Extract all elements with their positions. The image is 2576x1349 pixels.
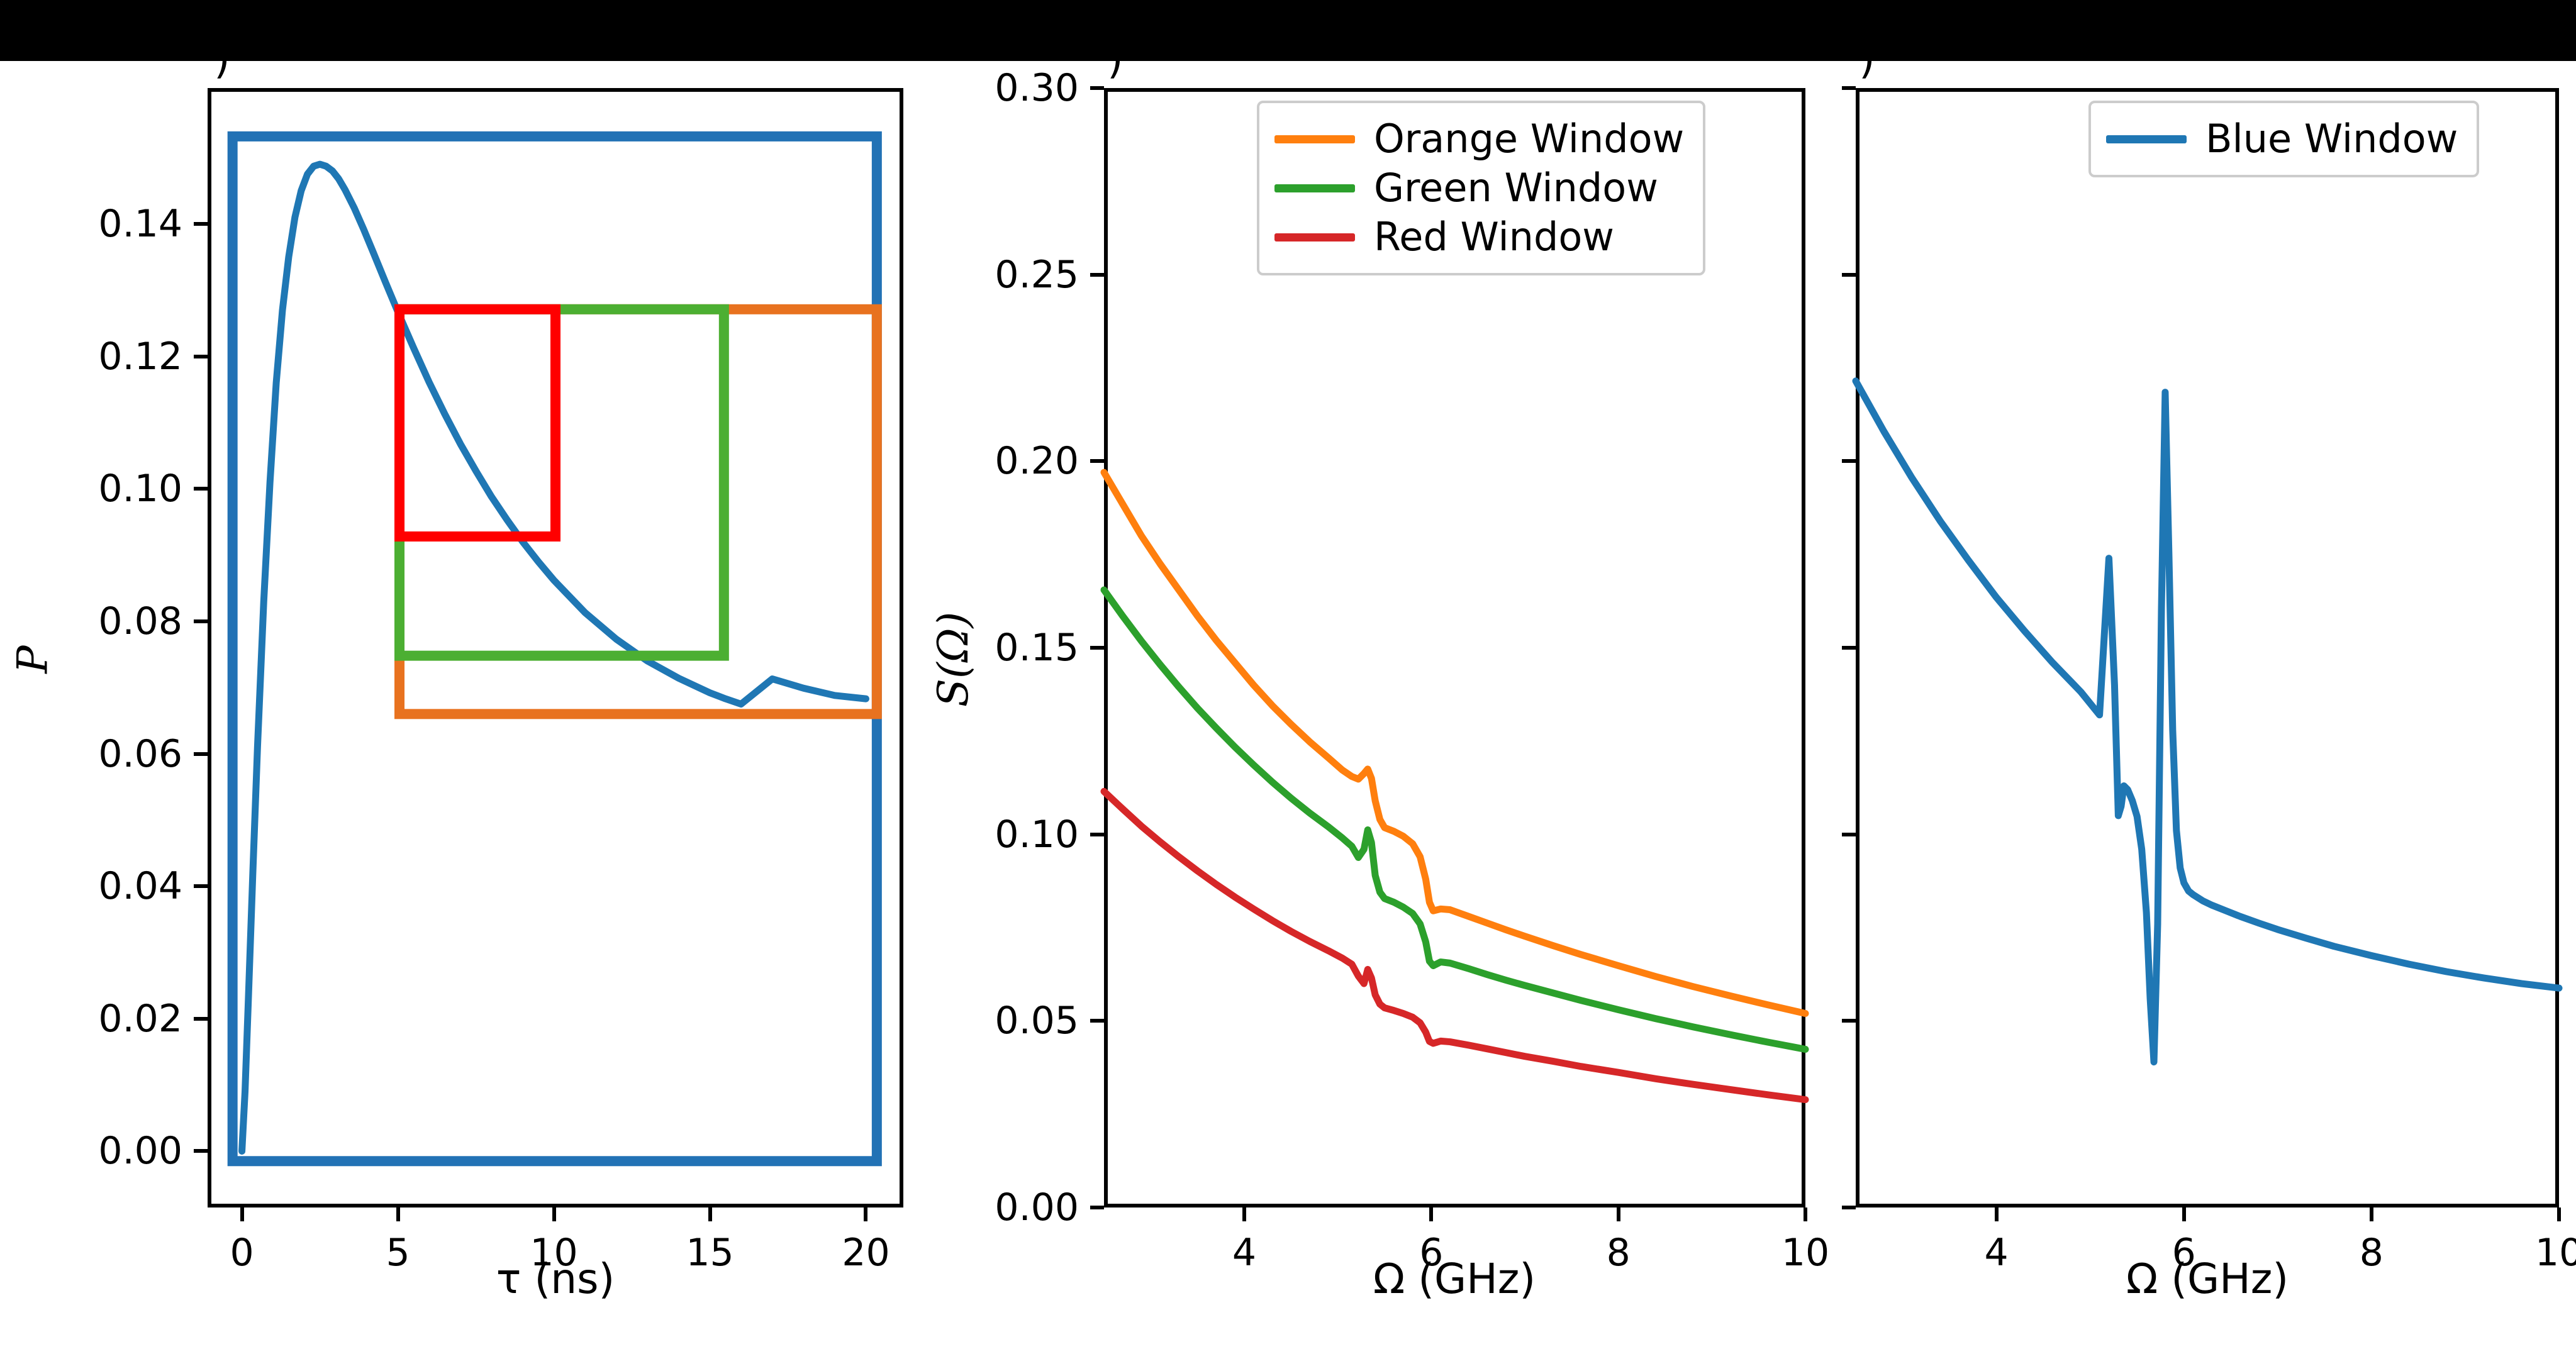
figure-canvas: 0.000.020.040.060.080.100.120.1405101520…	[0, 0, 2576, 1349]
legend-item-blue-window[interactable]: Blue Window	[2106, 114, 2458, 164]
ytick-mark	[1842, 646, 1856, 650]
xtick-mark	[1995, 1207, 1999, 1221]
xtick-mark	[2370, 1207, 2373, 1221]
legend-label-blue: Blue Window	[2205, 119, 2458, 158]
legend-swatch-blue	[2106, 135, 2187, 143]
xtick-mark	[2557, 1207, 2561, 1221]
ytick-mark	[1842, 1019, 1856, 1023]
ytick-mark	[1842, 1206, 1856, 1209]
xtick-label: 10	[2535, 1234, 2576, 1272]
xtick-label: 8	[2360, 1234, 2384, 1272]
top-crop-band	[0, 0, 2576, 61]
ytick-mark	[1842, 459, 1856, 463]
panel-c-legend[interactable]: Blue Window	[2088, 101, 2479, 177]
xtick-label: 4	[1985, 1234, 2009, 1272]
xtick-mark	[2182, 1207, 2186, 1221]
ytick-mark	[1842, 273, 1856, 277]
ytick-mark	[1842, 833, 1856, 836]
panel-c-plot	[0, 0, 2576, 1349]
ytick-mark	[1842, 86, 1856, 90]
panel-c-xlabel: Ω (GHz)	[2126, 1255, 2289, 1303]
